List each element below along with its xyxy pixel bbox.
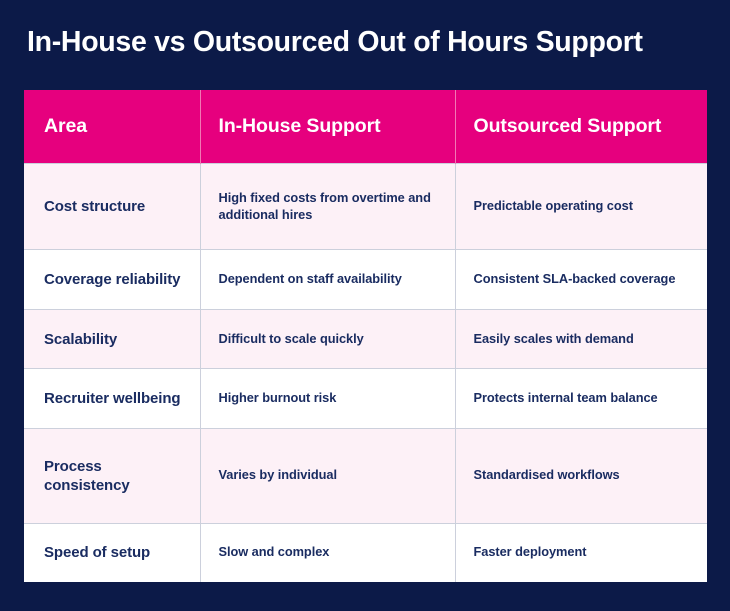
cell-in-house: Varies by individual — [200, 428, 455, 523]
cell-area: Recruiter wellbeing — [24, 369, 200, 428]
table-row: Process consistency Varies by individual… — [24, 428, 707, 523]
cell-area: Coverage reliability — [24, 250, 200, 309]
table-header-row: Area In-House Support Outsourced Support — [24, 90, 707, 164]
cell-in-house: Difficult to scale quickly — [200, 309, 455, 368]
cell-outsourced: Protects internal team balance — [455, 369, 707, 428]
comparison-table: Area In-House Support Outsourced Support… — [24, 90, 707, 582]
cell-in-house: High fixed costs from overtime and addit… — [200, 164, 455, 250]
column-header-in-house-support: In-House Support — [200, 90, 455, 164]
table-row: Speed of setup Slow and complex Faster d… — [24, 523, 707, 582]
cell-area: Speed of setup — [24, 523, 200, 582]
column-header-outsourced-support: Outsourced Support — [455, 90, 707, 164]
table-body: Cost structure High fixed costs from ove… — [24, 164, 707, 583]
cell-outsourced: Standardised workflows — [455, 428, 707, 523]
table-header: Area In-House Support Outsourced Support — [24, 90, 707, 164]
cell-area: Scalability — [24, 309, 200, 368]
cell-in-house: Higher burnout risk — [200, 369, 455, 428]
column-header-area: Area — [24, 90, 200, 164]
table-row: Scalability Difficult to scale quickly E… — [24, 309, 707, 368]
table-row: Cost structure High fixed costs from ove… — [24, 164, 707, 250]
table-row: Recruiter wellbeing Higher burnout risk … — [24, 369, 707, 428]
table-row: Coverage reliability Dependent on staff … — [24, 250, 707, 309]
cell-area: Process consistency — [24, 428, 200, 523]
page-title: In-House vs Outsourced Out of Hours Supp… — [27, 26, 717, 59]
cell-in-house: Slow and complex — [200, 523, 455, 582]
cell-in-house: Dependent on staff availability — [200, 250, 455, 309]
comparison-table-container: Area In-House Support Outsourced Support… — [24, 90, 707, 582]
cell-outsourced: Faster deployment — [455, 523, 707, 582]
cell-outsourced: Predictable operating cost — [455, 164, 707, 250]
cell-outsourced: Consistent SLA-backed coverage — [455, 250, 707, 309]
cell-outsourced: Easily scales with demand — [455, 309, 707, 368]
infographic-canvas: In-House vs Outsourced Out of Hours Supp… — [0, 0, 730, 611]
cell-area: Cost structure — [24, 164, 200, 250]
